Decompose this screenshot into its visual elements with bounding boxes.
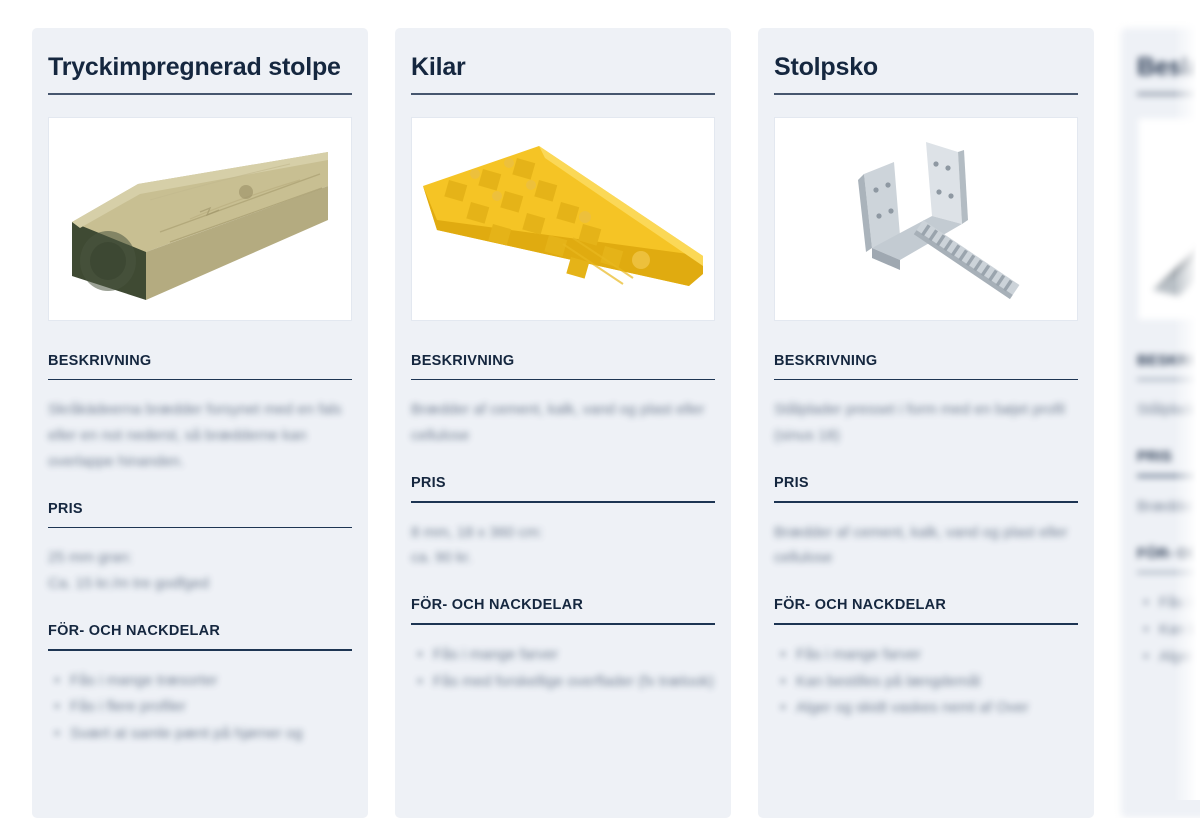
title-divider [411,93,715,95]
section-heading-description: BESKRIVNING [1137,351,1200,379]
pros-cons-list: Fås i mange træsorter Fås i flere profil… [48,668,352,747]
card-title: Kilar [411,46,715,93]
description-text: Skråkädeerna brædder forsynet med en fal… [48,397,352,474]
section-divider [1137,572,1200,574]
section-divider [48,649,352,651]
price-text: Brædder af cement, kalk, vand og plast [1137,494,1200,520]
card-title: Beslag [1137,46,1200,93]
section-divider [1137,379,1200,381]
section-divider [411,623,715,625]
title-divider [1137,93,1200,95]
price-text: 25 mm gran: Ca. 15 kr./m tre godfged [48,545,352,597]
list-item: Kan bestilles på længdemål [778,669,1078,695]
section-divider [774,501,1078,503]
description-text: Stålplader presset i form med en bøjet p… [774,397,1078,449]
product-card-rail[interactable]: Tryckimpregnerad stolpe [32,28,1200,818]
section-divider [411,379,715,381]
section-heading-price: PRIS [48,499,352,527]
description-text: Brædder af cement, kalk, vand og plast e… [411,397,715,449]
section-heading-description: BESKRIVNING [48,351,352,379]
galvanized-post-anchor-photo [776,124,1076,314]
section-divider [411,501,715,503]
title-divider [774,93,1078,95]
section-heading-description: BESKRIVNING [411,351,715,379]
section-heading-pros-cons: FÖR- OCH NACKDELAR [774,595,1078,623]
list-item: Fås i flere profiler [52,694,352,720]
section-heading-pros-cons: FÖR- OCH NACKDELAR [1137,544,1200,572]
product-image-frame [774,117,1078,321]
title-divider [48,93,352,95]
product-card-partial[interactable]: Beslag BESKRIVNING Stålplader presset i … [1121,28,1200,818]
section-divider [1137,475,1200,477]
pros-cons-list: Fås i mange farver Kan bestilles på læng… [774,642,1078,721]
list-item: Svært at samle pænt på hjørner og [52,721,352,747]
list-item: Alger og skidt vaskes nemt af Over [778,695,1078,721]
yellow-plastic-shim-photo [413,124,713,314]
section-divider [774,379,1078,381]
pros-cons-list: Fås i mange farver Kan bestilles på mål … [1137,590,1200,669]
price-text: Brædder af cement, kalk, vand og plast e… [774,520,1078,572]
pressure-treated-wooden-post-photo [50,124,350,314]
section-divider [48,527,352,529]
section-heading-description: BESKRIVNING [774,351,1078,379]
product-card-kilar[interactable]: Kilar [395,28,731,818]
section-heading-price: PRIS [1137,447,1200,475]
section-divider [48,379,352,381]
product-image-frame [48,117,352,321]
section-divider [774,623,1078,625]
product-image-frame [411,117,715,321]
description-text: Stålplader presset i form med en bøjet p… [1137,397,1200,423]
list-item: Fås i mange farver [415,642,715,668]
list-item: Fås i mange farver [778,642,1078,668]
list-item: Fås med forskellige overflader (fx trælo… [415,669,715,695]
section-heading-price: PRIS [774,473,1078,501]
product-card-tryckimpregnerad-stolpe[interactable]: Tryckimpregnerad stolpe [32,28,368,818]
price-text: 8 mm, 18 x 360 cm: ca. 90 kr. [411,520,715,572]
section-heading-pros-cons: FÖR- OCH NACKDELAR [411,595,715,623]
list-item: Fås i mange farver [1141,590,1200,616]
card-title: Tryckimpregnerad stolpe [48,46,352,93]
metal-angle-bracket-photo [1139,124,1200,314]
section-heading-price: PRIS [411,473,715,501]
pros-cons-list: Fås i mange farver Fås med forskellige o… [411,642,715,695]
section-heading-pros-cons: FÖR- OCH NACKDELAR [48,621,352,649]
list-item: Kan bestilles på mål [1141,617,1200,643]
product-image-frame [1137,117,1200,321]
card-title: Stolpsko [774,46,1078,93]
list-item: Alger og skidt vaskes nemt af [1141,644,1200,670]
product-card-stolpsko[interactable]: Stolpsko [758,28,1094,818]
list-item: Fås i mange træsorter [52,668,352,694]
